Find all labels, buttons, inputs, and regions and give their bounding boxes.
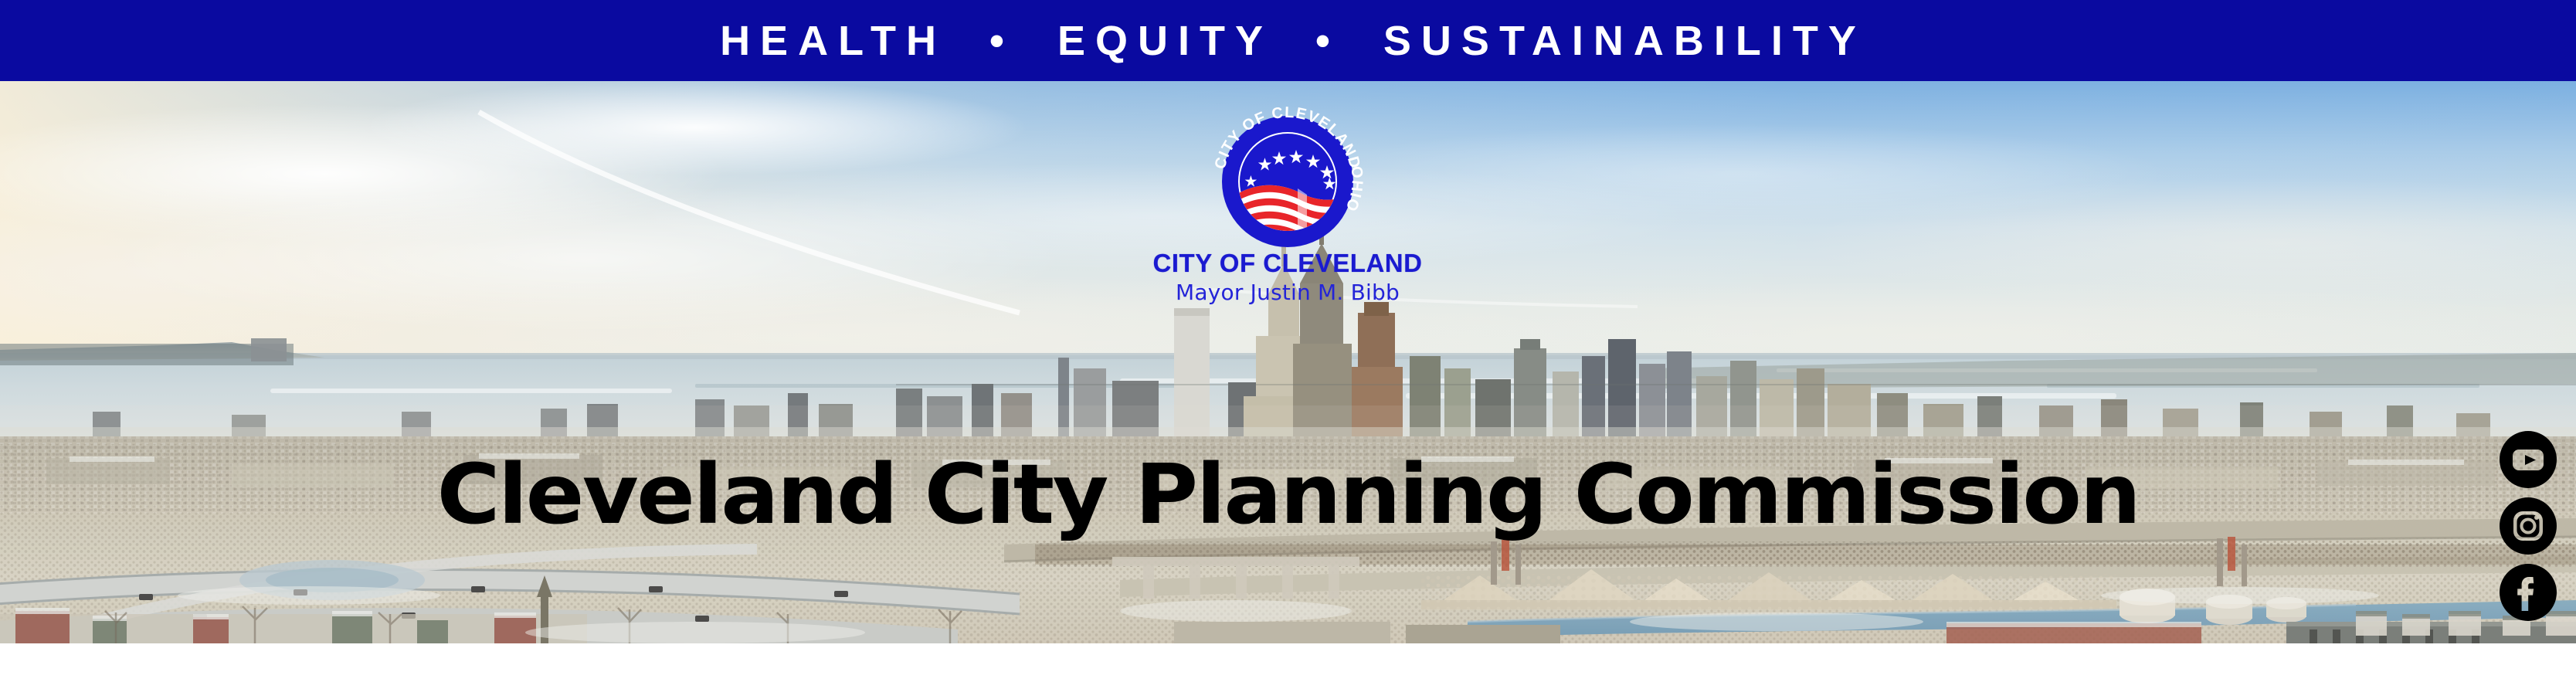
instagram-link[interactable] [2497,495,2559,557]
youtube-icon [2497,429,2559,490]
seal-organization-name: CITY OF CLEVELAND [1114,250,1461,277]
instagram-icon [2497,495,2559,557]
city-of-cleveland-seal-icon: CITY OF CLEVELAND OHIO [1199,102,1376,249]
facebook-link[interactable] [2497,562,2559,623]
tagline-banner: HEALTH • EQUITY • SUSTAINABILITY [0,0,2576,81]
city-seal-block: CITY OF CLEVELAND OHIO [1114,102,1461,304]
page-root: HEALTH • EQUITY • SUSTAINABILITY [0,0,2576,682]
facebook-icon [2497,562,2559,623]
social-links [2496,429,2560,623]
page-title: Cleveland City Planning Commission [0,454,2576,537]
tagline-text: HEALTH • EQUITY • SUSTAINABILITY [710,20,1866,62]
youtube-link[interactable] [2497,429,2559,490]
seal-mayor-line: Mayor Justin M. Bibb [1114,281,1461,304]
